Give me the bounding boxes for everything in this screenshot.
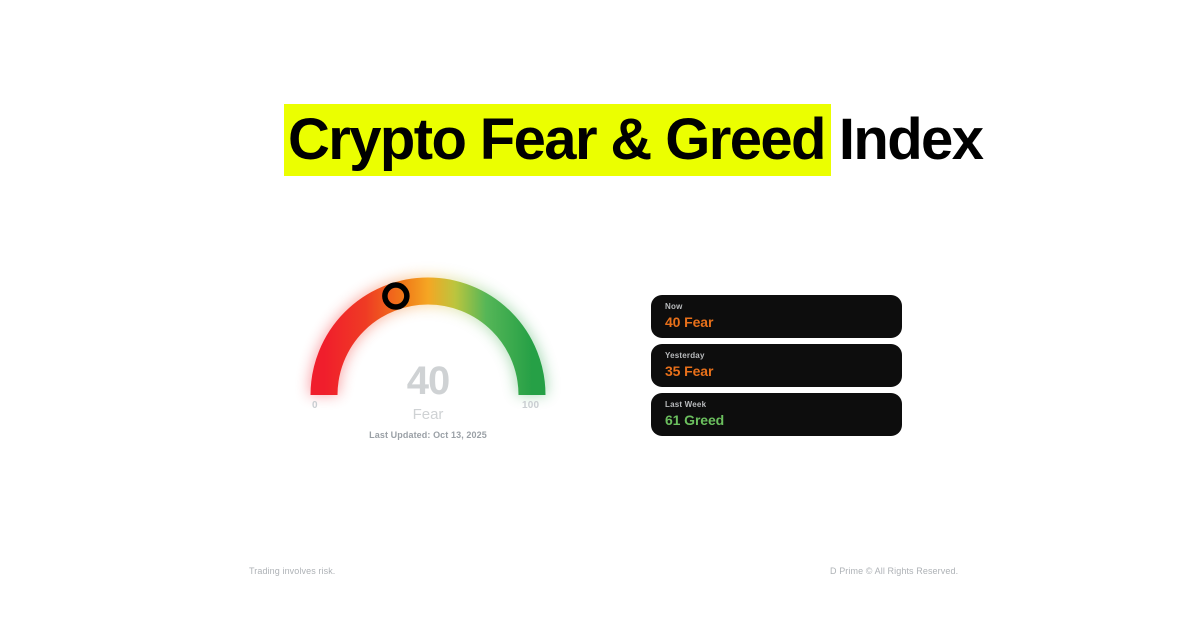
gauge-value: 40: [288, 360, 568, 402]
history-card-list: Now 40 Fear Yesterday 35 Fear Last Week …: [651, 295, 902, 436]
history-card-last-week[interactable]: Last Week 61 Greed: [651, 393, 902, 436]
history-card-value: 35 Fear: [665, 362, 902, 381]
page-title-highlighted: Crypto Fear & Greed: [284, 104, 831, 176]
history-card-label: Now: [665, 301, 902, 312]
gauge-readout: 40 Fear: [288, 360, 568, 425]
page-title: Crypto Fear & GreedIndex: [284, 104, 982, 176]
page-title-text: Crypto Fear & GreedIndex: [284, 104, 982, 176]
gauge-state-label: Fear: [288, 405, 568, 425]
history-card-label: Last Week: [665, 399, 902, 410]
gauge-last-updated: Last Updated: Oct 13, 2025: [288, 430, 568, 440]
history-card-now[interactable]: Now 40 Fear: [651, 295, 902, 338]
fear-greed-gauge: 0 100 40 Fear Last Updated: Oct 13, 2025: [288, 262, 568, 452]
history-card-value: 40 Fear: [665, 313, 902, 332]
page-title-plain: Index: [831, 107, 983, 172]
footer-disclaimer: Trading involves risk.: [249, 566, 335, 576]
history-card-label: Yesterday: [665, 350, 902, 361]
footer-copyright: D Prime © All Rights Reserved.: [830, 566, 958, 576]
history-card-yesterday[interactable]: Yesterday 35 Fear: [651, 344, 902, 387]
history-card-value: 61 Greed: [665, 411, 902, 430]
